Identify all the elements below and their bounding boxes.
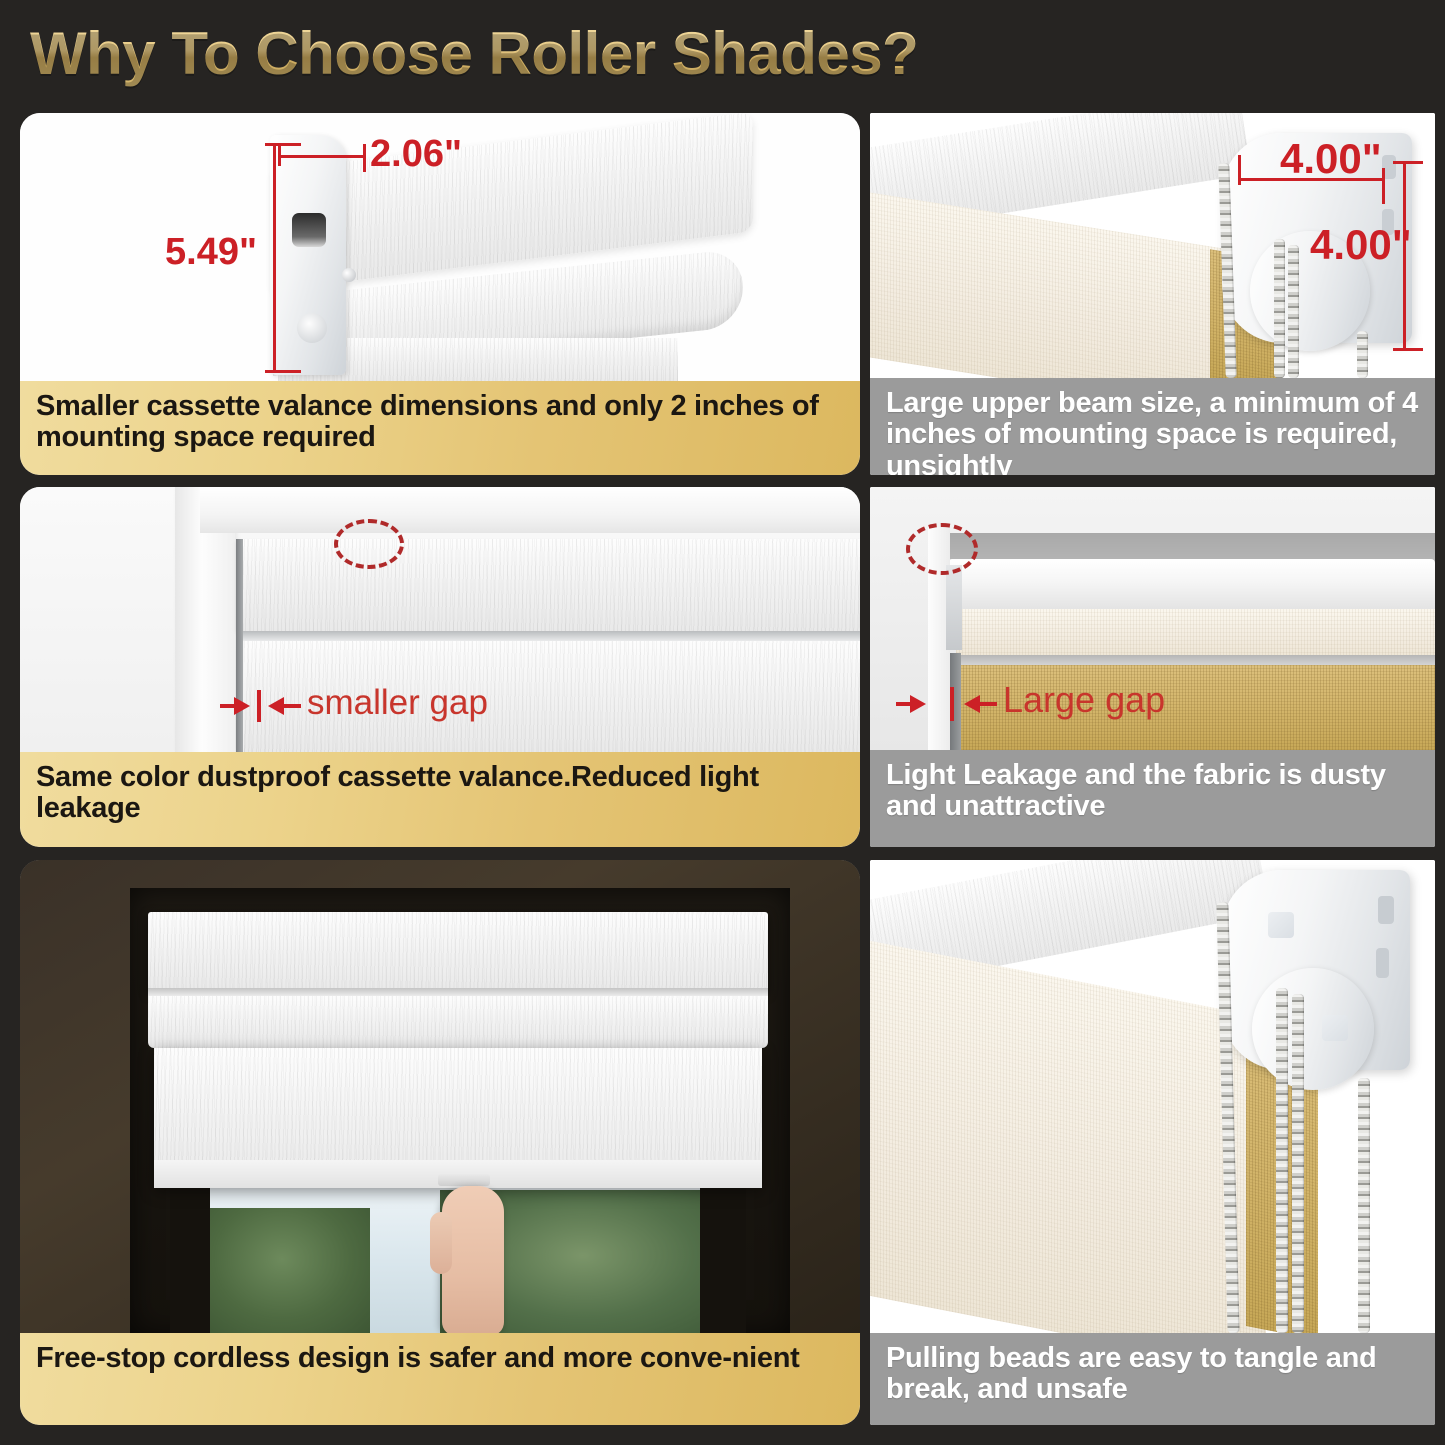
width-dimension-label: 2.06" xyxy=(370,133,462,176)
window-frame-head xyxy=(200,487,860,533)
bead-chain-rear xyxy=(1292,994,1304,1333)
end-cap-slot-icon xyxy=(292,213,326,247)
beam-height-tick-bottom xyxy=(1393,348,1423,351)
cream-fabric-band xyxy=(956,609,1435,657)
bracket-arrow-emboss-top xyxy=(1268,912,1294,938)
panel-large-beam: 4.00" 4.00" Large upper beam size, a min… xyxy=(870,113,1435,475)
gap-tick xyxy=(257,690,261,722)
gap-arrow-left xyxy=(234,697,250,715)
large-gap-arrow-left-stem xyxy=(896,702,912,706)
end-cap-screw-icon xyxy=(342,268,356,282)
bead-chain-middle xyxy=(1276,988,1288,1333)
width-dim-tick-left xyxy=(278,144,281,166)
large-gap-label: Large gap xyxy=(1003,679,1165,721)
highlight-ellipse-top xyxy=(334,519,404,569)
large-gap-arrow-left xyxy=(910,695,926,713)
panel-smaller-cassette: 2.06" 5.49" Smaller cassette valance dim… xyxy=(20,113,860,475)
height-dim-tick-top xyxy=(265,143,301,146)
width-dimension-line xyxy=(278,155,366,158)
bracket-arrow-emboss-bottom xyxy=(1322,1015,1348,1041)
shade-fabric-front xyxy=(870,938,1266,1333)
bead-chain-loop xyxy=(1357,331,1368,378)
smaller-gap-label: smaller gap xyxy=(307,683,488,723)
beam-height-dimension-label: 4.00" xyxy=(1310,221,1412,269)
beam-width-tick-left xyxy=(1238,155,1241,185)
panel-2-photo: 4.00" 4.00" xyxy=(870,113,1435,378)
bead-chain-middle xyxy=(1274,239,1285,378)
end-cap-lock-icon xyxy=(297,313,327,343)
valance-groove xyxy=(148,988,768,996)
page-title: Why To Choose Roller Shades? xyxy=(30,18,1030,90)
panel-3-caption: Same color dustproof cassette valance.Re… xyxy=(20,752,860,847)
bracket-mount-slot-bottom xyxy=(1376,948,1389,978)
panel-1-caption: Smaller cassette valance dimensions and … xyxy=(20,381,860,475)
cassette-valance-head xyxy=(148,912,768,992)
panel-5-photo xyxy=(20,860,860,1336)
hand-thumb xyxy=(430,1212,452,1274)
gap-arrow-right-stem xyxy=(283,704,301,708)
panel-3-photo: smaller gap xyxy=(20,487,860,752)
gap-arrow-left-stem xyxy=(220,704,236,708)
highlight-ellipse xyxy=(906,523,978,575)
large-gap-arrow-right xyxy=(964,695,980,713)
width-dim-tick-right xyxy=(363,144,366,172)
panel-4-caption: Light Leakage and the fabric is dusty an… xyxy=(870,750,1435,847)
beam-height-tick-top xyxy=(1393,161,1423,164)
infographic-root: Why To Choose Roller Shades? 2.06" 5.49"… xyxy=(0,0,1445,1445)
height-dim-tick-bottom xyxy=(265,370,301,373)
panel-dustproof-valance: smaller gap Same color dustproof cassett… xyxy=(20,487,860,847)
panel-6-photo xyxy=(870,860,1435,1333)
valance-lower-lip xyxy=(148,996,768,1048)
bead-chain-loop xyxy=(1358,1078,1370,1333)
bracket-mount-slot-top xyxy=(1378,896,1394,924)
gap-strip xyxy=(236,539,243,752)
fabric-shadow-line xyxy=(954,655,1435,665)
bead-chain-rear xyxy=(1288,245,1299,378)
shade-fabric-front xyxy=(870,191,1240,378)
panel-1-photo: 2.06" 5.49" xyxy=(20,113,860,381)
window-mullion-left xyxy=(170,1182,210,1336)
valance-bottom-lip xyxy=(236,631,860,641)
height-dimension-label: 5.49" xyxy=(165,231,257,274)
bracket-clip xyxy=(946,565,962,650)
panel-2-caption: Large upper beam size, a minimum of 4 in… xyxy=(870,378,1435,475)
height-dimension-line xyxy=(273,143,276,373)
window-mullion-right xyxy=(700,1182,746,1336)
panel-4-photo: Large gap xyxy=(870,487,1435,750)
tree-foliage-left xyxy=(210,1208,370,1336)
beam-width-tick-right xyxy=(1382,168,1385,204)
panel-pulling-beads: Pulling beads are easy to tangle and bre… xyxy=(870,860,1435,1425)
panel-6-caption: Pulling beads are easy to tangle and bre… xyxy=(870,1333,1435,1425)
beam-width-dimension-label: 4.00" xyxy=(1280,135,1382,183)
bottom-rail-grip-tab xyxy=(438,1174,490,1186)
gap-arrow-right xyxy=(268,697,284,715)
large-gap-tick xyxy=(950,687,954,721)
large-gap-arrow-right-stem xyxy=(979,702,997,706)
panel-5-caption: Free-stop cordless design is safer and m… xyxy=(20,1333,860,1425)
panel-cordless-design: Free-stop cordless design is safer and m… xyxy=(20,860,860,1425)
panel-light-leakage: Large gap Light Leakage and the fabric i… xyxy=(870,487,1435,847)
roller-bracket-lower-lobe xyxy=(1252,968,1374,1090)
cassette-valance-face xyxy=(236,539,860,631)
